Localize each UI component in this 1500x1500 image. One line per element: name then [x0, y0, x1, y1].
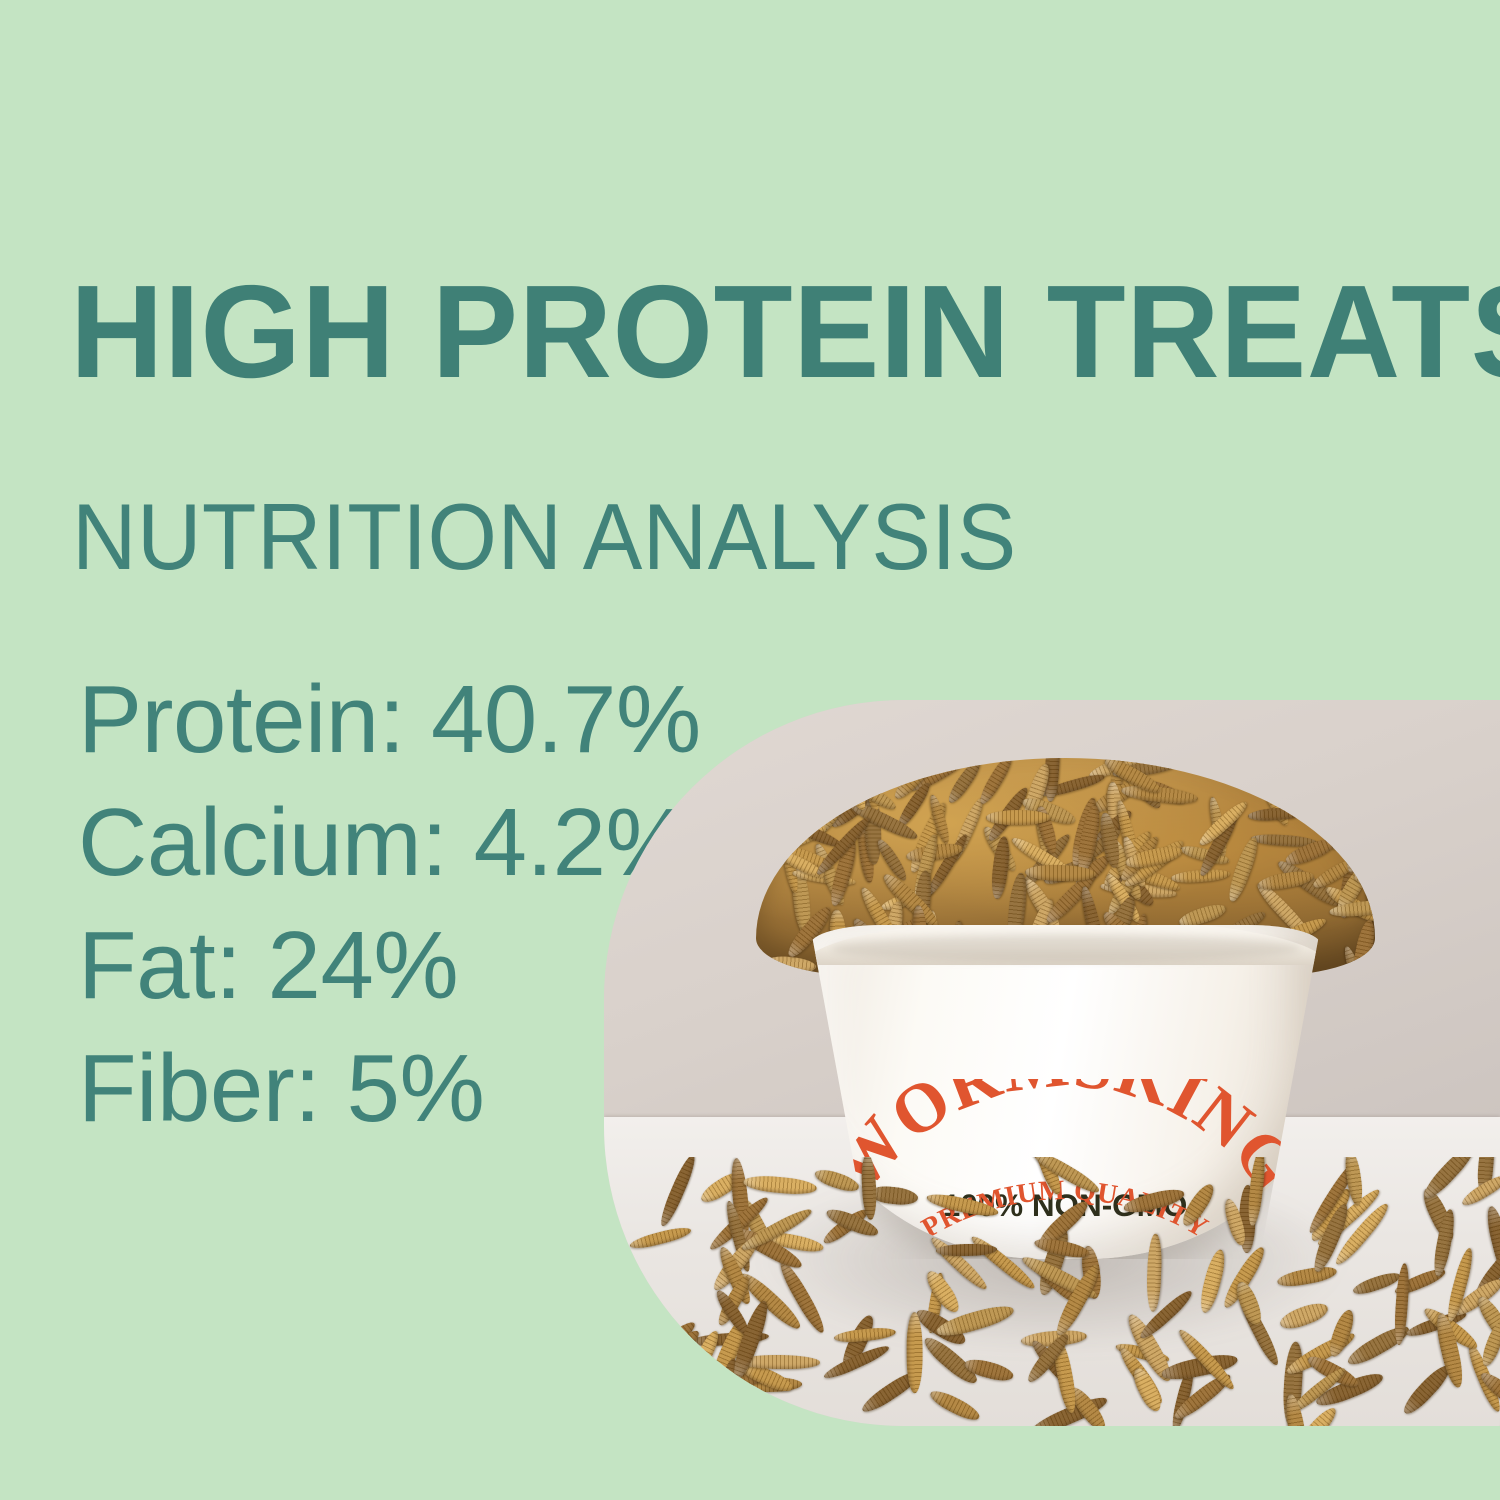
- larva-shape: [657, 1157, 699, 1228]
- larva-shape: [927, 1386, 982, 1424]
- larva-shape: [1248, 805, 1306, 822]
- larva-shape: [1233, 1279, 1266, 1328]
- nutrition-infographic: HIGH PROTEIN TREATS NUTRITION ANALYSIS P…: [0, 0, 1500, 1500]
- page-subtitle: NUTRITION ANALYSIS: [72, 490, 1017, 584]
- larva-shape: [743, 1174, 818, 1197]
- scattered-larvae: [622, 1157, 1500, 1426]
- larva-shape: [776, 1258, 829, 1336]
- larva-shape: [1146, 1234, 1162, 1312]
- larva-shape: [1276, 1264, 1338, 1289]
- larva-shape: [812, 1166, 861, 1195]
- larva-shape: [1492, 1415, 1500, 1426]
- larva-shape: [1399, 1362, 1453, 1418]
- larva-shape: [629, 1224, 693, 1251]
- product-photo: WORMSKING 100% NON-GMO PREMIUM QUALITY: [604, 700, 1500, 1426]
- larva-shape: [907, 1312, 923, 1393]
- larva-shape: [986, 810, 1050, 825]
- larva-shape: [1122, 1186, 1186, 1216]
- bowl-rim-shade: [831, 935, 1301, 962]
- larva-shape: [1245, 1157, 1267, 1226]
- page-title: HIGH PROTEIN TREATS: [70, 266, 1500, 398]
- larva-shape: [925, 1190, 999, 1219]
- larva-shape: [1030, 1157, 1103, 1196]
- larva-shape: [1224, 834, 1261, 903]
- larva-shape: [1178, 1180, 1218, 1229]
- larva-shape: [1352, 1270, 1402, 1298]
- larva-shape: [1278, 1299, 1331, 1333]
